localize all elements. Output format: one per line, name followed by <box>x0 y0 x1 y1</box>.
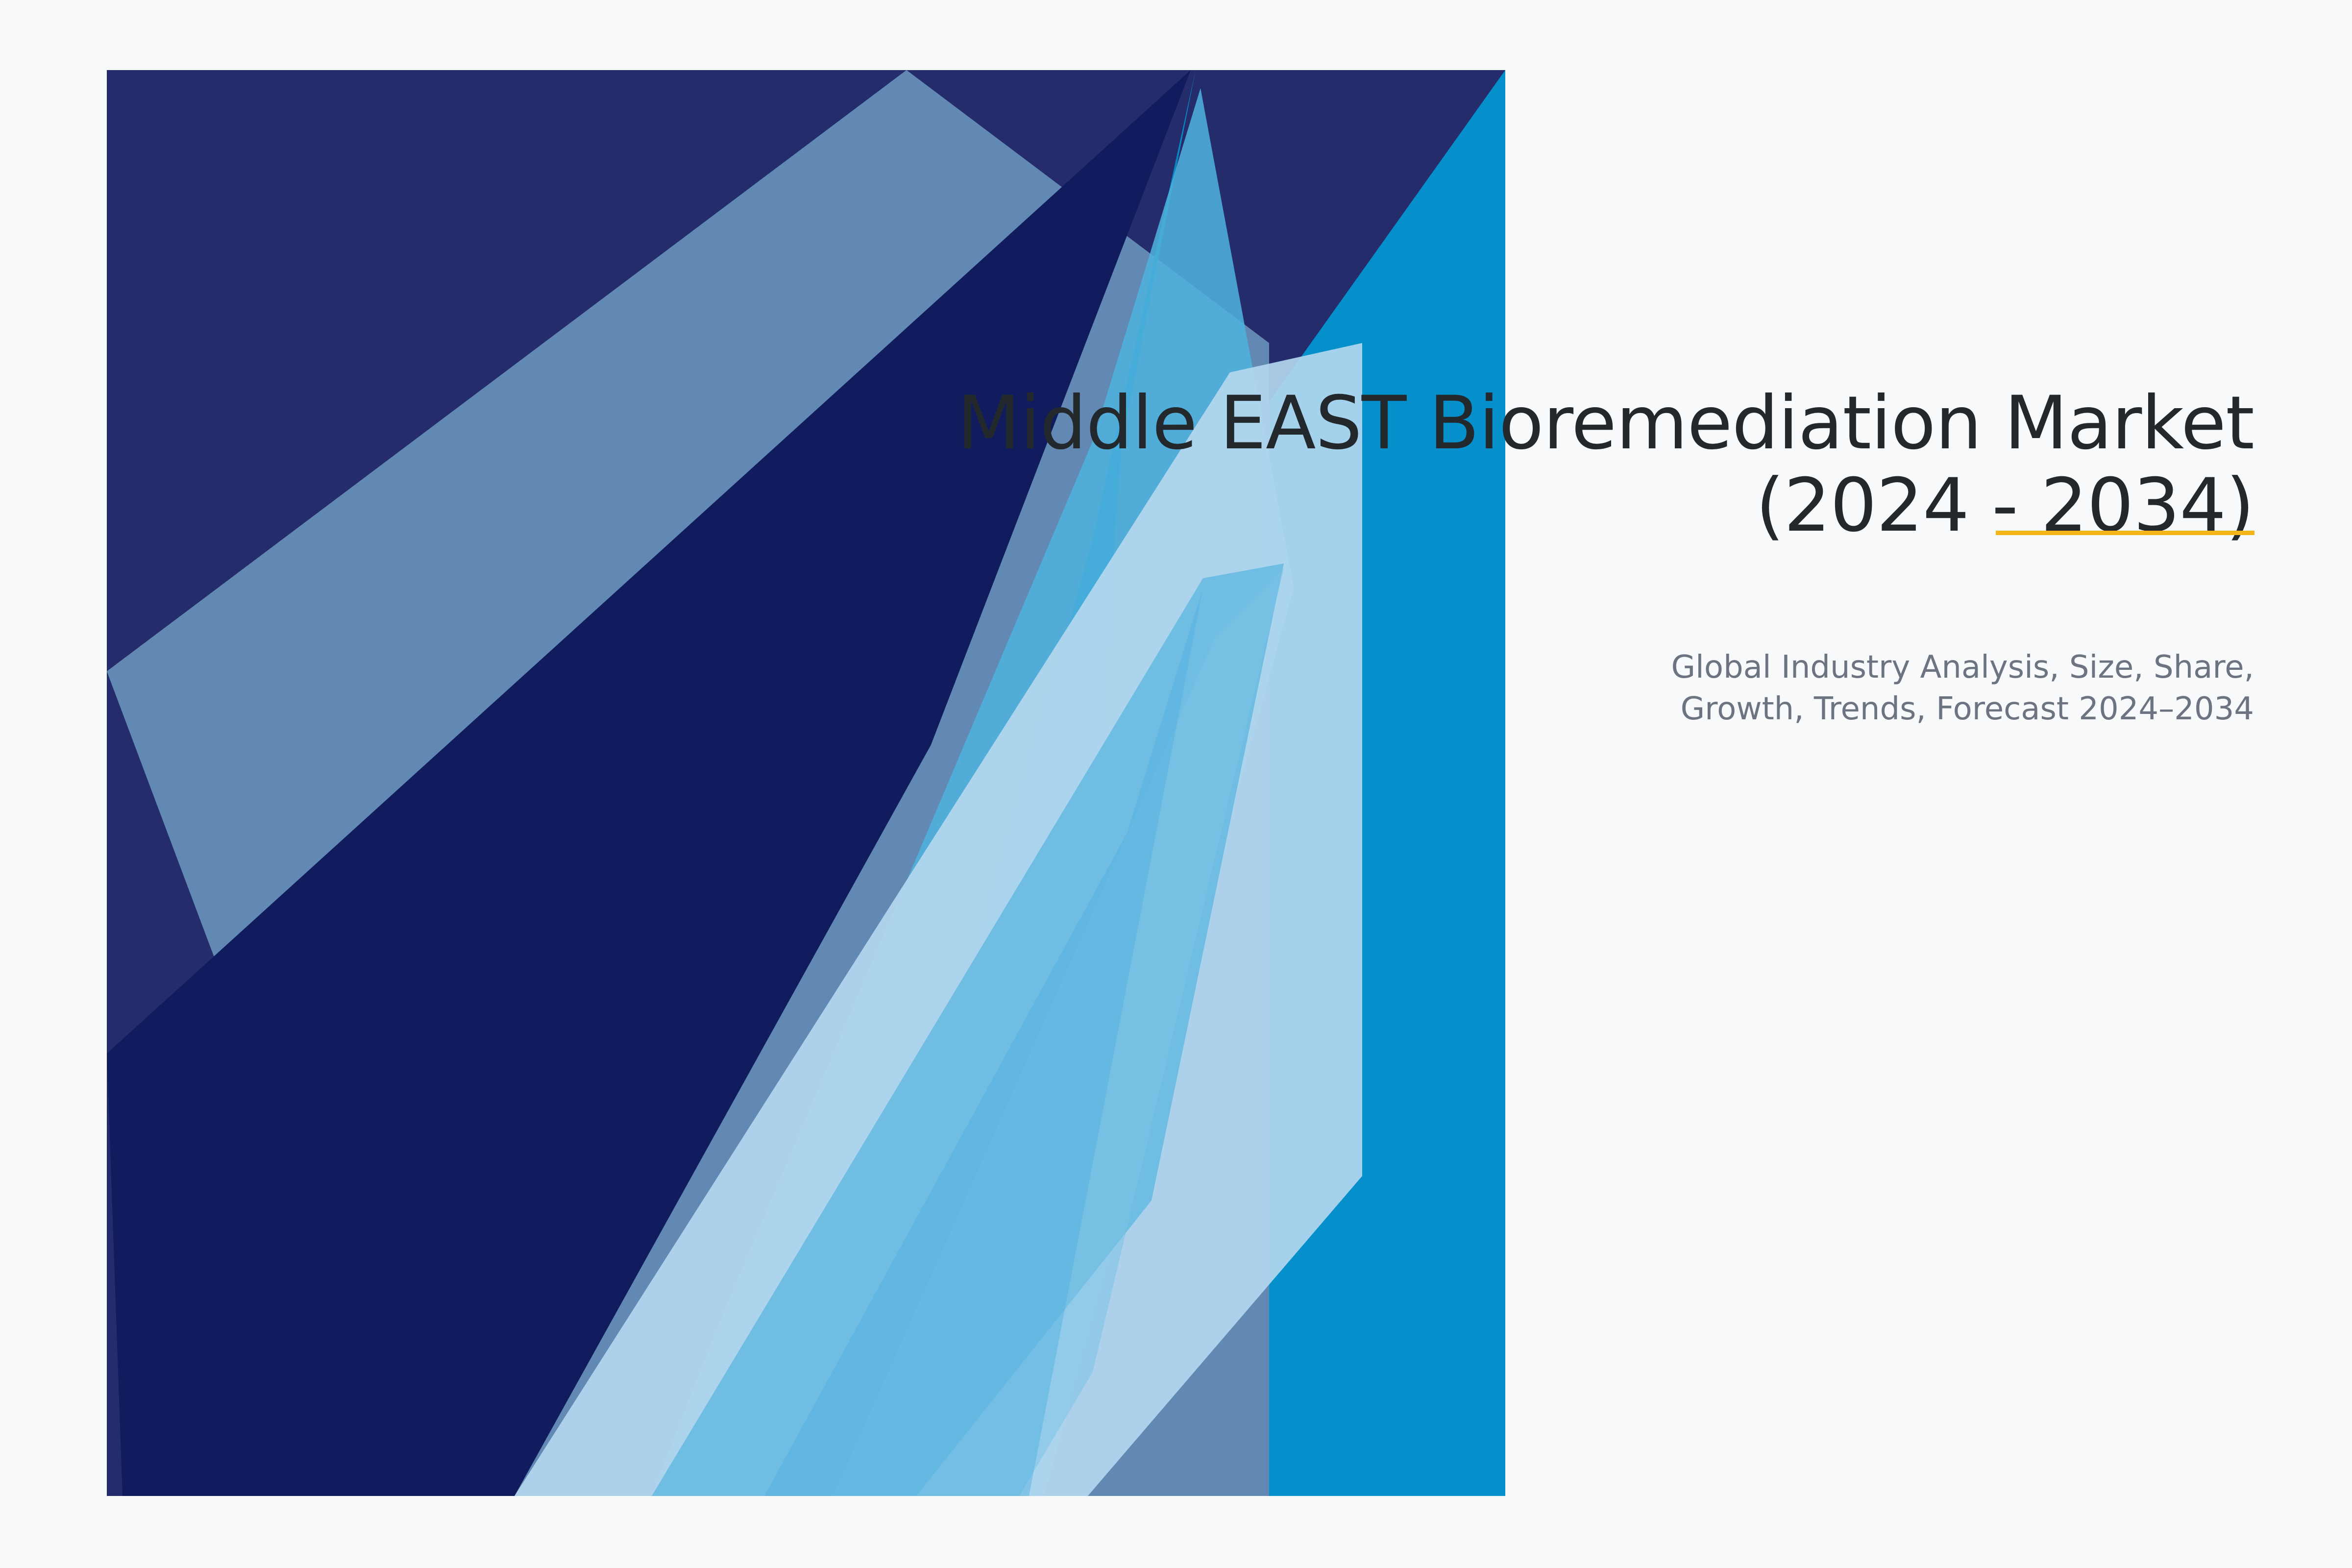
report-cover-page: Middle EAST Bioremediation Market (2024 … <box>0 0 2352 1568</box>
title-accent-underline <box>1996 531 2254 535</box>
cover-heading-group: Middle EAST Bioremediation Market (2024 … <box>833 382 2254 547</box>
abstract-geometric-artwork <box>0 0 2352 1568</box>
page-title: Middle EAST Bioremediation Market (2024 … <box>833 382 2254 547</box>
page-subtitle: Global Industry Analysis, Size, Share, G… <box>1421 647 2254 730</box>
